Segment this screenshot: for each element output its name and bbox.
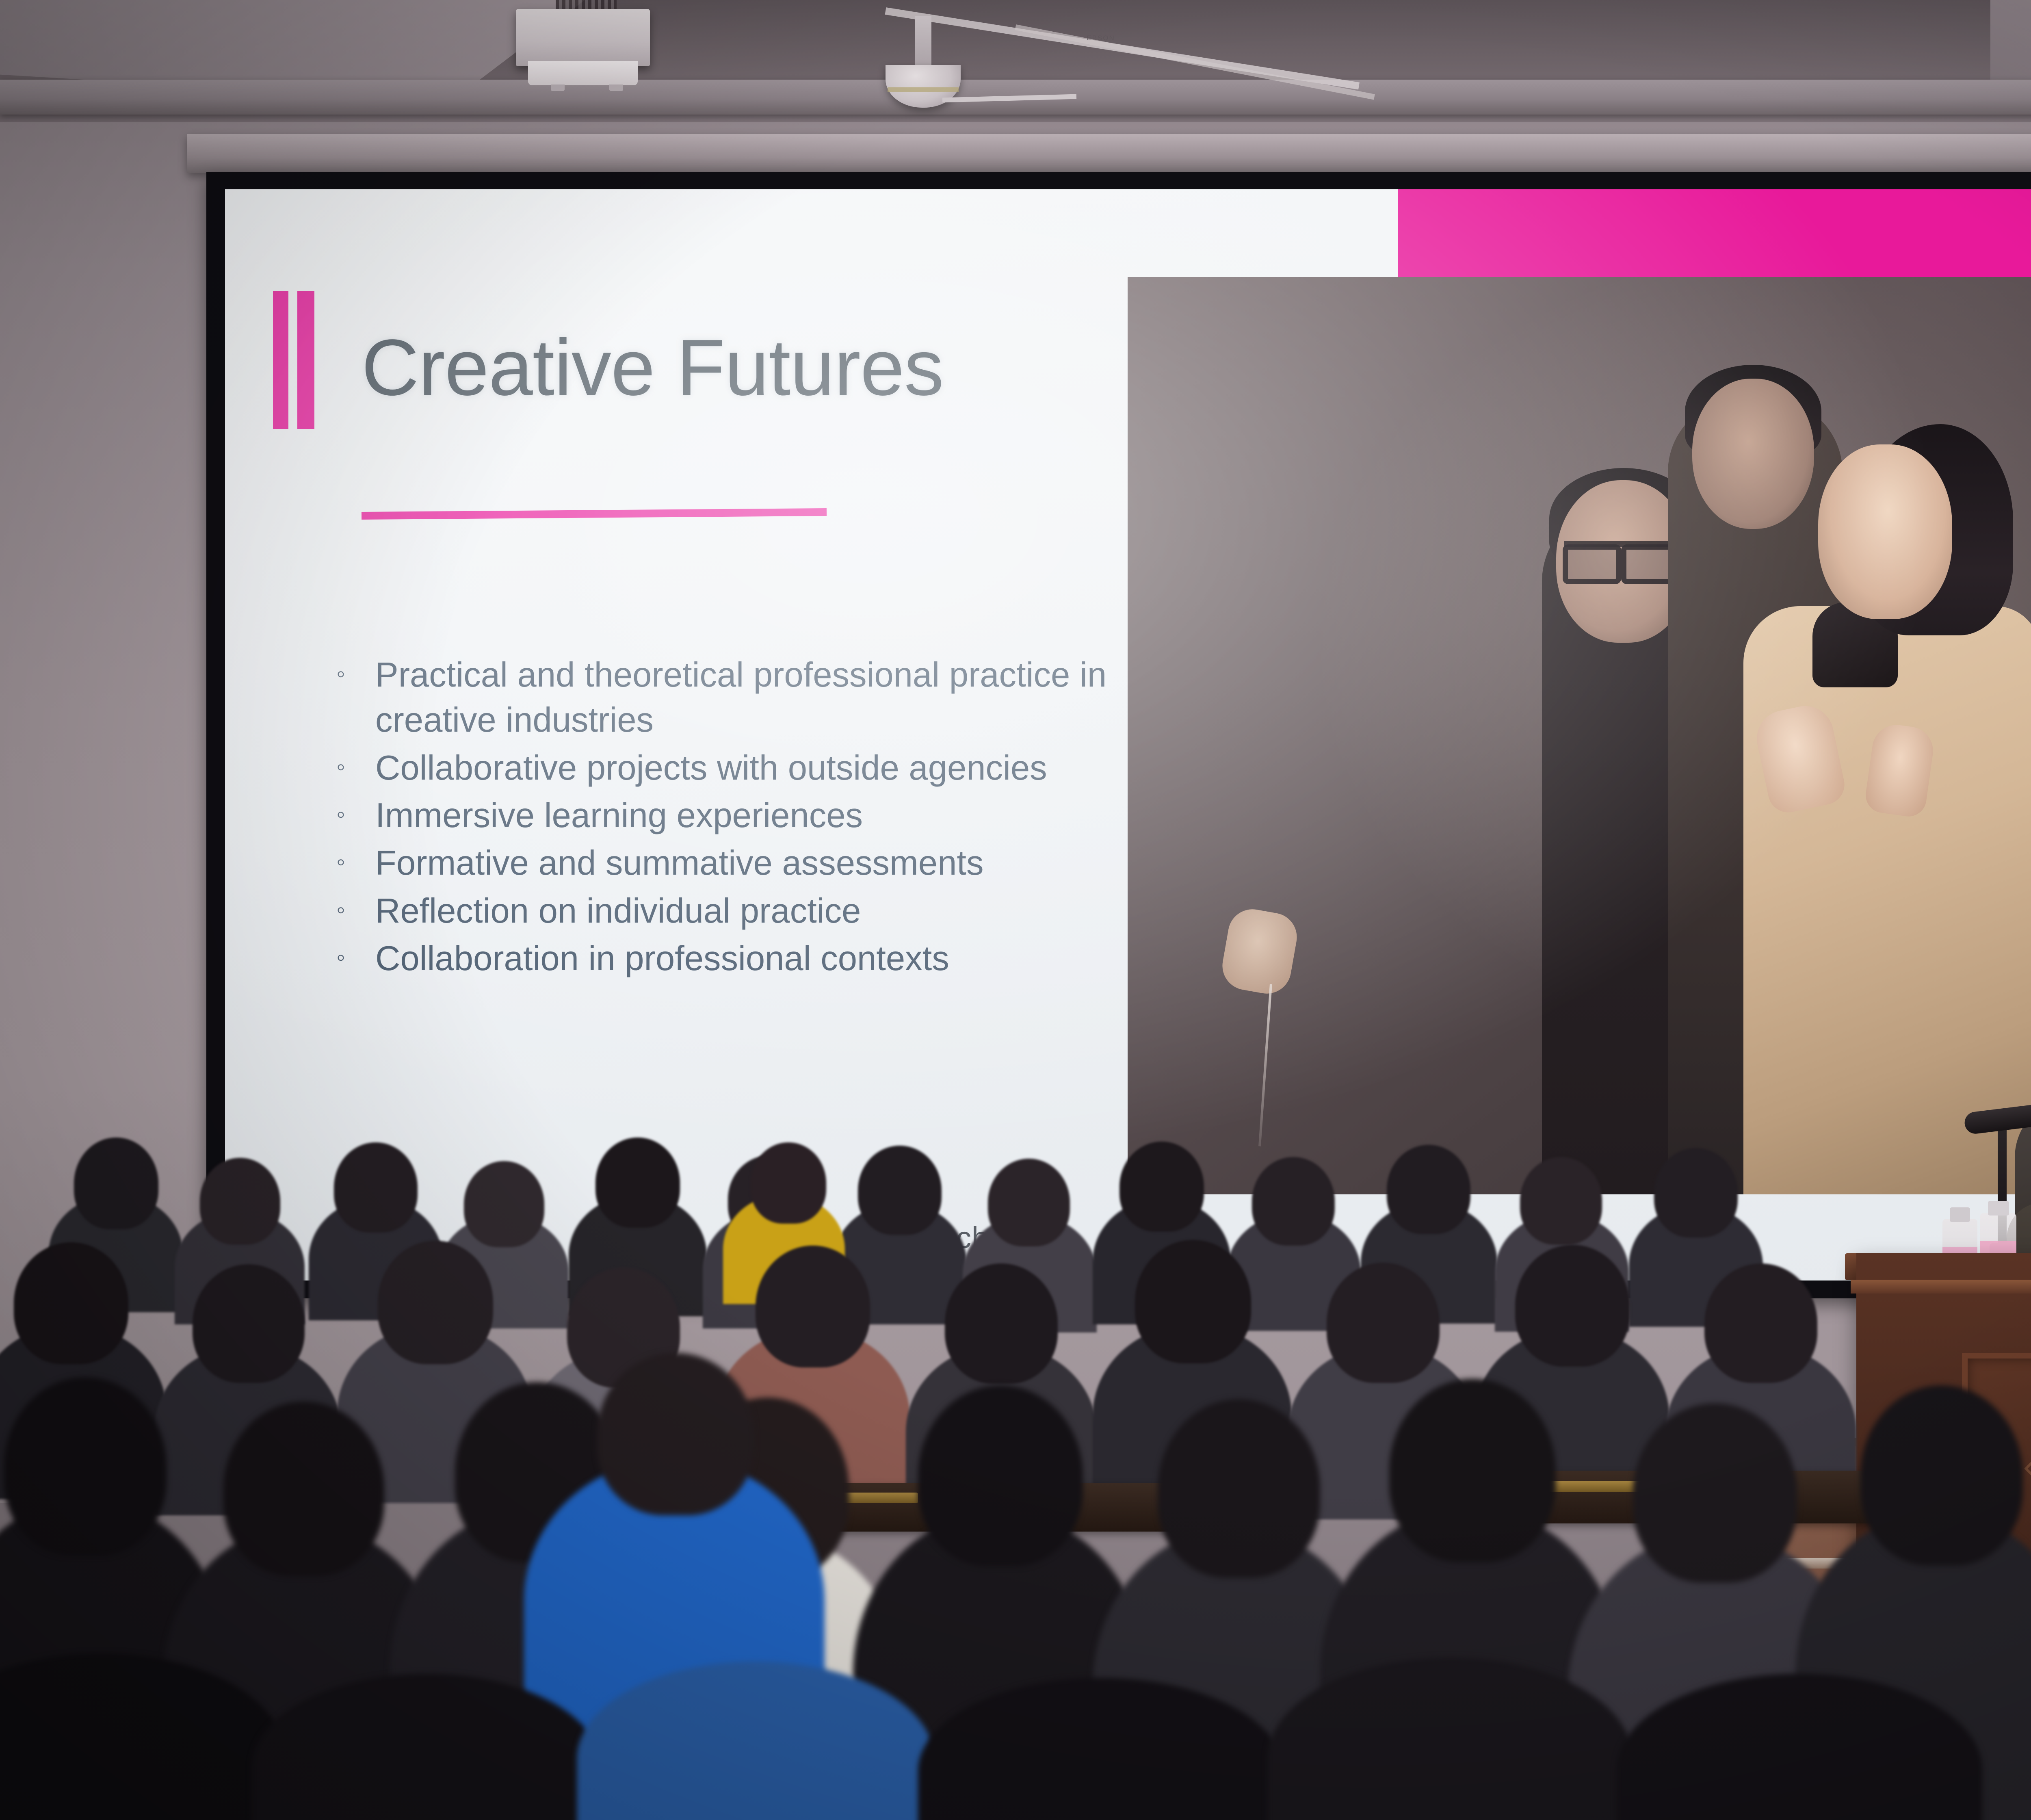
projector-lens-icon xyxy=(528,61,638,85)
bullet-text: Collaboration in professional contexts xyxy=(375,936,1119,981)
bullet-text: Reflection on individual practice xyxy=(375,888,1119,934)
photo-performer-glasses-icon xyxy=(1564,541,1678,577)
audience-head xyxy=(1704,1263,1817,1383)
projection-screen-surface: Creative Futures ◦ Practical and theoret… xyxy=(225,189,2031,1280)
screen-roller-housing xyxy=(187,134,2031,173)
audience-head xyxy=(1387,1145,1470,1234)
audience-head-foreground xyxy=(1389,1379,1556,1562)
audience-head xyxy=(945,1263,1058,1384)
audience-head-foreground xyxy=(1860,1385,2023,1566)
audience-head xyxy=(595,1137,680,1228)
audience-head xyxy=(193,1264,305,1383)
audience-head xyxy=(1654,1148,1738,1237)
audience-head xyxy=(756,1246,870,1367)
photo-performer-front xyxy=(1743,606,2031,1194)
projector-brand-label: EPSON xyxy=(1083,34,1119,42)
slide-bullet-list: ◦ Practical and theoretical professional… xyxy=(331,652,1119,984)
audience-head-foreground xyxy=(1158,1399,1320,1578)
slide-accent-bar-right xyxy=(297,291,314,429)
slide-title-rule xyxy=(362,508,827,520)
bullet-marker-icon: ◦ xyxy=(331,936,375,979)
projection-screen-frame: Creative Futures ◦ Practical and theoret… xyxy=(206,172,2031,1298)
bullet-marker-icon: ◦ xyxy=(331,652,375,696)
bullet-text: Collaborative projects with outside agen… xyxy=(375,745,1119,791)
audience-head xyxy=(378,1241,493,1364)
photo-performer-head xyxy=(1818,444,1952,619)
photo-prop-string xyxy=(1258,984,1272,1146)
bullet-marker-icon: ◦ xyxy=(331,841,375,884)
audience-head xyxy=(1515,1245,1630,1367)
lecture-hall-scene: EPSON xyxy=(0,0,2031,1820)
slide-accent-bar-left xyxy=(273,291,288,429)
bullet-marker-icon: ◦ xyxy=(331,888,375,932)
audience-head xyxy=(74,1137,158,1229)
audience-head xyxy=(1252,1157,1335,1246)
list-item: ◦ Immersive learning experiences xyxy=(331,793,1119,838)
bullet-text: Immersive learning experiences xyxy=(375,793,1119,838)
audience-head xyxy=(858,1146,942,1235)
slide-title: Creative Futures xyxy=(362,322,944,413)
audience-head-foreground xyxy=(1633,1403,1797,1583)
audience-head xyxy=(1327,1263,1440,1383)
audience-head xyxy=(1520,1157,1602,1245)
audience-head-foreground xyxy=(918,1385,1083,1566)
audience-head xyxy=(14,1242,128,1364)
audience-head xyxy=(464,1161,544,1247)
photo-performer-hand xyxy=(1219,906,1301,997)
audience-head xyxy=(751,1142,826,1224)
list-item: ◦ Collaborative projects with outside ag… xyxy=(331,745,1119,791)
audience-head-foreground xyxy=(223,1402,384,1576)
bullet-marker-icon: ◦ xyxy=(331,793,375,836)
ceiling-projector: EPSON xyxy=(516,9,650,66)
projector-foot-icon xyxy=(551,84,565,91)
list-item: ◦ Reflection on individual practice xyxy=(331,888,1119,934)
presentation-slide: Creative Futures ◦ Practical and theoret… xyxy=(225,189,2031,1280)
list-item: ◦ Collaboration in professional contexts xyxy=(331,936,1119,981)
audience xyxy=(0,1133,2031,1820)
audience-head-foreground xyxy=(597,1353,754,1515)
bullet-text: Formative and summative assessments xyxy=(375,841,1119,886)
dome-light-band xyxy=(888,87,959,92)
list-item: ◦ Formative and summative assessments xyxy=(331,841,1119,886)
audience-head xyxy=(988,1159,1070,1246)
audience-head xyxy=(334,1142,418,1233)
dome-light-stem xyxy=(915,16,931,69)
photo-performer-head xyxy=(1692,379,1814,529)
slide-photograph xyxy=(1128,277,2031,1194)
audience-head-foreground xyxy=(4,1377,167,1556)
audience-head xyxy=(1135,1240,1251,1363)
bullet-text: Practical and theoretical professional p… xyxy=(375,652,1119,743)
projector-foot-icon xyxy=(609,84,623,91)
list-item: ◦ Practical and theoretical professional… xyxy=(331,652,1119,743)
audience-head xyxy=(1119,1142,1204,1232)
audience-head xyxy=(200,1158,280,1245)
bullet-marker-icon: ◦ xyxy=(331,745,375,789)
